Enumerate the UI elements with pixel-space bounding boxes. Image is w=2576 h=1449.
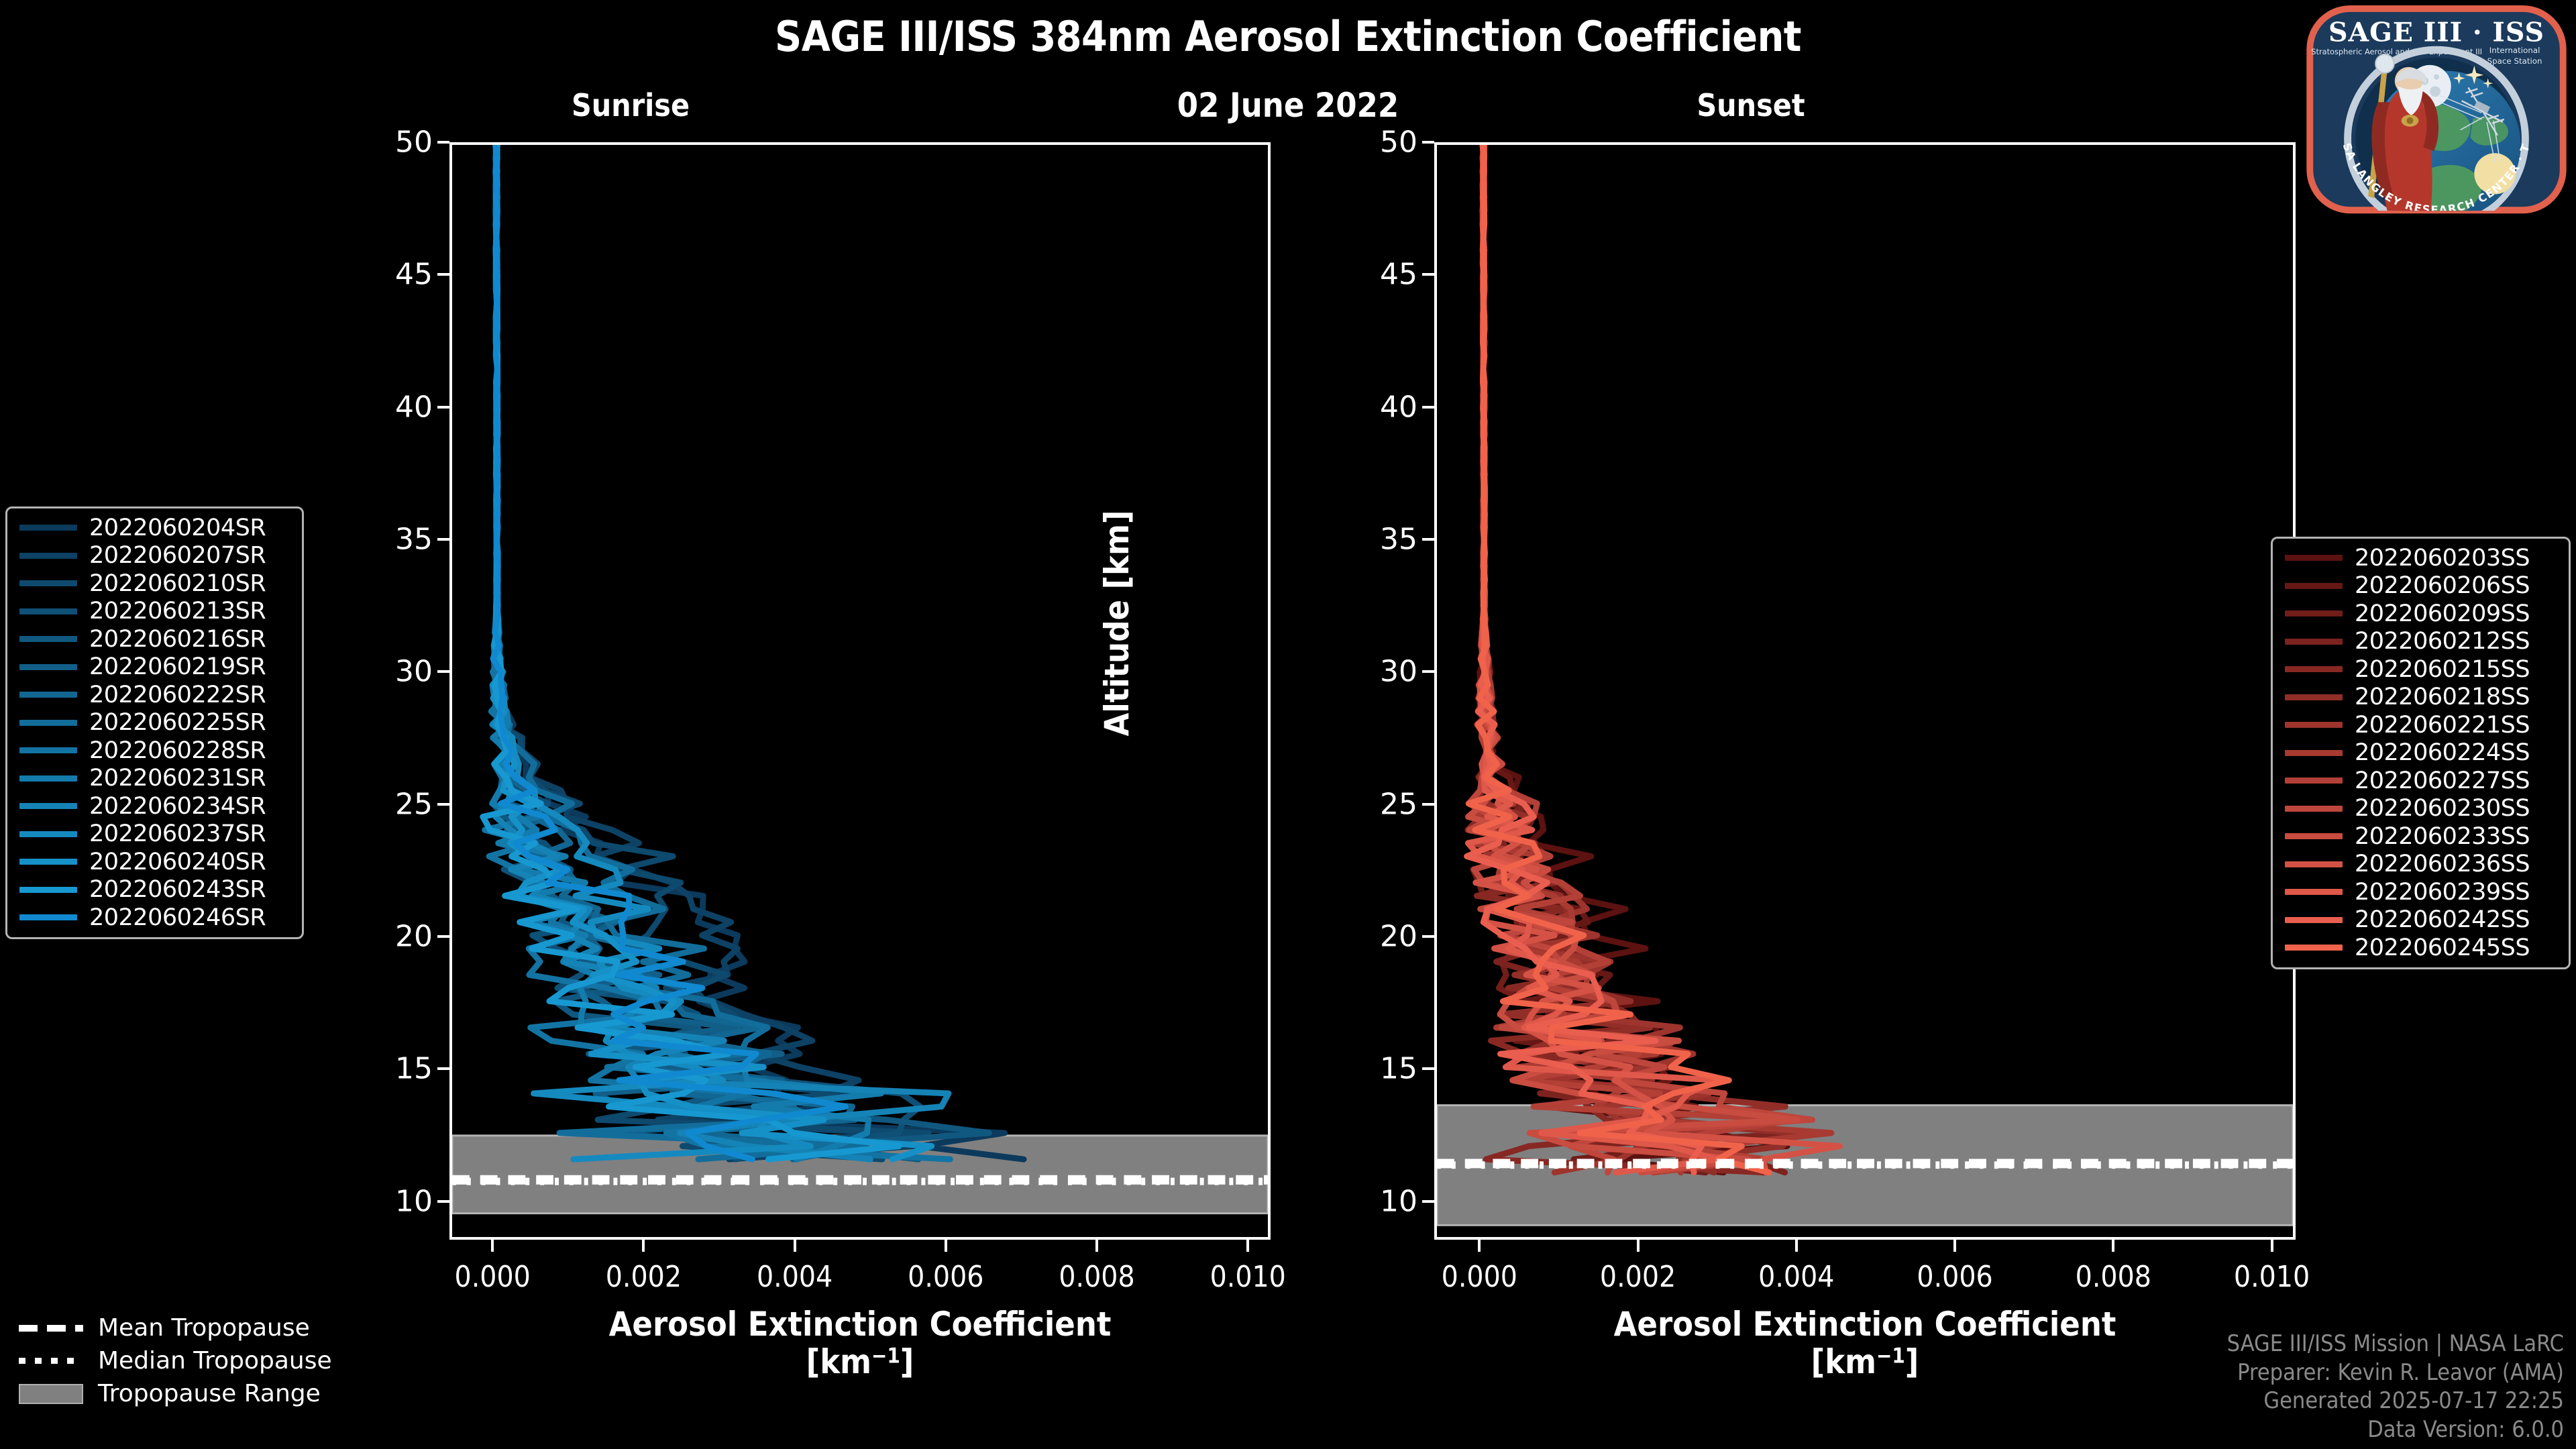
y-axis-tick-label: 45: [1347, 258, 1417, 292]
extinction-profile-line: [489, 145, 920, 1159]
legend-item-label: 2022060210SR: [89, 570, 266, 597]
x-axis-tick-label: 0.008: [2076, 1260, 2151, 1294]
y-axis-tick-mark: [1422, 670, 1434, 673]
extinction-profile-line: [494, 145, 1024, 1159]
legend-color-swatch: [2285, 555, 2343, 561]
y-axis-tick-label: 30: [362, 655, 433, 689]
legend-item[interactable]: 2022060224SS: [2279, 739, 2562, 767]
x-axis-tick-mark: [1637, 1240, 1640, 1252]
y-axis-tick-mark: [437, 141, 449, 144]
subtitle-date: 02 June 2022: [0, 86, 2576, 125]
legend-item-label: 2022060243SR: [89, 876, 266, 903]
legend-color-swatch: [2285, 694, 2343, 700]
panel-title-sunrise: Sunrise: [517, 87, 745, 123]
y-axis-tick-label: 40: [362, 390, 433, 424]
y-axis-tick-mark: [437, 935, 449, 938]
x-axis-tick-label: 0.010: [1210, 1260, 1286, 1294]
x-axis-tick-mark: [491, 1240, 494, 1252]
page-title: SAGE III/ISS 384nm Aerosol Extinction Co…: [0, 12, 2576, 61]
plot-area-sunrise[interactable]: [449, 142, 1271, 1240]
x-axis-tick-mark: [1953, 1240, 1956, 1252]
plot-canvas-sunrise: [452, 145, 1268, 1237]
extinction-profile-line: [483, 145, 899, 1159]
legend-item-label: 2022060240SR: [89, 849, 266, 875]
tropopause-legend-label: Median Tropopause: [98, 1347, 332, 1375]
credits-line: Data Version: 6.0.0: [2227, 1415, 2564, 1444]
legend-item-label: 2022060216SR: [89, 626, 266, 653]
legend-item-label: 2022060213SR: [89, 598, 266, 625]
legend-item[interactable]: 2022060216SR: [14, 625, 295, 653]
y-axis-tick-mark: [437, 1067, 449, 1070]
legend-item[interactable]: 2022060233SS: [2279, 822, 2562, 851]
x-axis-tick-mark: [1246, 1240, 1249, 1252]
legend-color-swatch: [19, 859, 77, 865]
y-axis-tick-label: 20: [362, 920, 433, 954]
tropopause-legend-label: Tropopause Range: [98, 1380, 321, 1407]
legend-item-label: 2022060234SR: [89, 793, 266, 820]
legend-color-swatch: [2285, 750, 2343, 756]
y-axis-tick-mark: [1422, 1067, 1434, 1070]
legend-item-label: 2022060225SR: [89, 709, 266, 736]
legend-item[interactable]: 2022060245SS: [2279, 934, 2562, 962]
legend-item-label: 2022060215SS: [2355, 656, 2530, 683]
legend-item[interactable]: 2022060246SR: [14, 904, 295, 932]
legend-item-label: 2022060221SS: [2355, 712, 2530, 739]
legend-color-swatch: [19, 914, 77, 920]
legend-item-label: 2022060219SR: [89, 653, 266, 680]
legend-item[interactable]: 2022060210SR: [14, 570, 295, 598]
legend-item[interactable]: 2022060242SS: [2279, 906, 2562, 934]
legend-color-swatch: [2285, 666, 2343, 672]
x-axis-tick-label: 0.008: [1059, 1260, 1134, 1294]
legend-color-swatch: [19, 775, 77, 782]
tropopause-legend-key-dashed: [19, 1320, 83, 1337]
extinction-profile-line: [1476, 145, 1840, 1173]
x-axis-tick-mark: [945, 1240, 947, 1252]
extinction-profile-line: [494, 145, 811, 1159]
legend-item-label: 2022060227SS: [2355, 767, 2530, 794]
y-axis-tick-mark: [1422, 803, 1434, 806]
legend-item-label: 2022060239SS: [2355, 879, 2530, 906]
y-axis-tick-label: 25: [1347, 787, 1417, 821]
legend-item[interactable]: 2022060203SS: [2279, 544, 2562, 572]
y-axis-tick-label: 25: [362, 787, 433, 821]
y-axis-tick-label: 15: [362, 1052, 433, 1086]
tropopause-legend-item[interactable]: Tropopause Range: [19, 1377, 368, 1410]
legend-item[interactable]: 2022060228SR: [14, 737, 295, 765]
x-axis-tick-mark: [1795, 1240, 1798, 1252]
logo-moon-crater-3: [2434, 74, 2439, 80]
legend-color-swatch: [19, 692, 77, 698]
legend-color-swatch: [2285, 889, 2343, 895]
tropopause-legend-label: Mean Tropopause: [98, 1314, 310, 1342]
legend-color-swatch: [2285, 806, 2343, 812]
legend-item-label: 2022060230SS: [2355, 795, 2530, 822]
tropopause-legend-item[interactable]: Mean Tropopause: [19, 1311, 368, 1344]
y-axis-tick-label: 35: [1347, 523, 1417, 557]
legend-item[interactable]: 2022060240SR: [14, 848, 295, 876]
legend-color-swatch: [2285, 610, 2343, 616]
extinction-profile-line: [493, 145, 989, 1159]
x-axis-tick-mark: [2112, 1240, 2114, 1252]
legend-item[interactable]: 2022060204SR: [14, 514, 295, 542]
y-axis-tick-label: 45: [362, 258, 433, 292]
tropopause-legend[interactable]: Mean TropopauseMedian TropopauseTropopau…: [19, 1311, 368, 1410]
x-axis-tick-label: 0.004: [757, 1260, 833, 1294]
y-axis-tick-mark: [1422, 538, 1434, 541]
x-axis-tick-label: 0.006: [908, 1260, 983, 1294]
legend-item-label: 2022060231SR: [89, 765, 266, 792]
y-axis-tick-label: 50: [362, 125, 433, 160]
y-axis-tick-mark: [1422, 935, 1434, 938]
y-axis-label-sunset: Altitude [km]: [1097, 455, 1136, 791]
legend-item-label: 2022060204SR: [89, 515, 266, 541]
legend-item[interactable]: 2022060222SR: [14, 681, 295, 709]
y-axis-tick-mark: [437, 1200, 449, 1203]
y-axis-tick-label: 50: [1347, 125, 1417, 160]
legend-color-swatch: [19, 887, 77, 893]
legend-item[interactable]: 2022060227SS: [2279, 767, 2562, 795]
legend-item-label: 2022060212SS: [2355, 628, 2530, 655]
legend-color-swatch: [19, 580, 77, 586]
legend-item-label: 2022060218SS: [2355, 684, 2530, 710]
credits-line: SAGE III/ISS Mission | NASA LaRC: [2227, 1330, 2564, 1358]
x-axis-tick-label: 0.000: [455, 1260, 531, 1294]
x-axis-unit: [km−1]: [1434, 1343, 2296, 1381]
credits-line: Preparer: Kevin R. Leavor (AMA): [2227, 1358, 2564, 1387]
y-axis-tick-mark: [1422, 141, 1434, 144]
legend-item-label: 2022060233SS: [2355, 823, 2530, 850]
legend-color-swatch: [2285, 945, 2343, 951]
y-axis-tick-mark: [1422, 406, 1434, 409]
sage-iii-iss-mission-patch-logo: SAGE III · ISS Stratospheric Aerosol and…: [2304, 3, 2569, 224]
legend-color-swatch: [2285, 722, 2343, 728]
x-axis-tick-label: 0.000: [1442, 1260, 1517, 1294]
legend-item-label: 2022060237SR: [89, 820, 266, 847]
extinction-profile-line: [494, 145, 867, 1159]
legend-sunrise[interactable]: 2022060204SR2022060207SR2022060210SR2022…: [5, 506, 304, 939]
legend-item[interactable]: 2022060209SS: [2279, 600, 2562, 628]
legend-item[interactable]: 2022060231SR: [14, 765, 295, 793]
legend-item-label: 2022060209SS: [2355, 600, 2530, 627]
y-axis-tick-mark: [437, 803, 449, 806]
legend-color-swatch: [19, 803, 77, 809]
legend-item[interactable]: 2022060213SR: [14, 598, 295, 626]
legend-item[interactable]: 2022060207SR: [14, 542, 295, 570]
legend-item-label: 2022060207SR: [89, 542, 266, 569]
x-axis-tick-label: 0.010: [2234, 1260, 2310, 1294]
legend-color-swatch: [19, 525, 77, 531]
y-axis-tick-mark: [437, 273, 449, 276]
legend-color-swatch: [2285, 861, 2343, 867]
legend-item[interactable]: 2022060212SS: [2279, 628, 2562, 656]
legend-item-label: 2022060246SR: [89, 904, 266, 931]
y-axis-tick-mark: [437, 538, 449, 541]
y-axis-tick-label: 15: [1347, 1052, 1417, 1086]
y-axis-tick-label: 40: [1347, 390, 1417, 424]
plot-area-sunset[interactable]: [1434, 142, 2296, 1240]
x-axis-tick-mark: [2271, 1240, 2273, 1252]
legend-item-label: 2022060228SR: [89, 737, 266, 764]
y-axis-tick-mark: [437, 406, 449, 409]
legend-color-swatch: [19, 664, 77, 670]
legend-item-label: 2022060224SS: [2355, 739, 2530, 766]
y-axis-tick-label: 30: [1347, 655, 1417, 689]
x-axis-tick-mark: [794, 1240, 796, 1252]
y-axis-tick-mark: [437, 670, 449, 673]
y-axis-tick-label: 10: [362, 1184, 433, 1218]
legend-item[interactable]: 2022060221SS: [2279, 711, 2562, 739]
x-axis-tick-mark: [642, 1240, 645, 1252]
legend-color-swatch: [2285, 777, 2343, 784]
legend-item[interactable]: 2022060215SS: [2279, 655, 2562, 684]
legend-color-swatch: [2285, 583, 2343, 589]
legend-item[interactable]: 2022060218SS: [2279, 684, 2562, 712]
legend-item[interactable]: 2022060206SS: [2279, 572, 2562, 600]
legend-item[interactable]: 2022060239SS: [2279, 878, 2562, 906]
legend-item[interactable]: 2022060230SS: [2279, 795, 2562, 823]
logo-subtitle-right-1: International: [2489, 46, 2540, 55]
x-axis-tick-mark: [1095, 1240, 1098, 1252]
tropopause-legend-key-band: [19, 1384, 83, 1404]
logo-subtitle-right-2: Space Station: [2487, 56, 2542, 66]
y-axis-tick-label: 20: [1347, 920, 1417, 954]
panel-title-sunset: Sunset: [1637, 87, 1865, 123]
legend-color-swatch: [19, 608, 77, 614]
legend-item-label: 2022060206SS: [2355, 572, 2530, 599]
x-axis-label-sunset: Aerosol Extinction Coefficient [km−1]: [1434, 1305, 2296, 1381]
legend-item-label: 2022060203SS: [2355, 545, 2530, 572]
legend-item[interactable]: 2022060234SR: [14, 792, 295, 820]
legend-color-swatch: [2285, 639, 2343, 645]
credits-line: Generated 2025-07-17 22:25: [2227, 1387, 2564, 1415]
x-axis-tick-label: 0.004: [1758, 1260, 1834, 1294]
legend-color-swatch: [19, 747, 77, 753]
figure-root: SAGE III/ISS 384nm Aerosol Extinction Co…: [0, 0, 2576, 1449]
legend-color-swatch: [19, 636, 77, 642]
plot-canvas-sunset: [1437, 145, 2293, 1237]
x-axis-label-text: Aerosol Extinction Coefficient: [1614, 1305, 2116, 1344]
x-axis-tick-label: 0.006: [1917, 1260, 1992, 1294]
credits-block: SAGE III/ISS Mission | NASA LaRCPreparer…: [2227, 1330, 2564, 1444]
legend-color-swatch: [19, 831, 77, 837]
y-axis-tick-label: 35: [362, 523, 433, 557]
x-axis-label-text: Aerosol Extinction Coefficient: [609, 1305, 1112, 1344]
legend-item-label: 2022060245SS: [2355, 934, 2530, 961]
legend-item-label: 2022060222SR: [89, 682, 266, 708]
logo-title: SAGE III · ISS: [2328, 17, 2544, 48]
legend-color-swatch: [2285, 917, 2343, 923]
x-axis-label-sunrise: Aerosol Extinction Coefficient [km−1]: [449, 1305, 1271, 1381]
legend-color-swatch: [19, 720, 77, 726]
legend-color-swatch: [2285, 833, 2343, 839]
legend-color-swatch: [19, 553, 77, 559]
legend-item-label: 2022060236SS: [2355, 851, 2530, 877]
tropopause-legend-key-dotted: [19, 1352, 83, 1370]
legend-item[interactable]: 2022060236SS: [2279, 851, 2562, 879]
legend-item[interactable]: 2022060219SR: [14, 653, 295, 682]
legend-item[interactable]: 2022060243SR: [14, 876, 295, 904]
legend-item[interactable]: 2022060237SR: [14, 820, 295, 849]
tropopause-legend-item[interactable]: Median Tropopause: [19, 1344, 368, 1377]
x-axis-tick-mark: [1478, 1240, 1481, 1252]
y-axis-tick-label: 10: [1347, 1184, 1417, 1218]
logo-moon-crater-2: [2430, 86, 2440, 97]
y-axis-tick-mark: [1422, 1200, 1434, 1203]
x-axis-tick-label: 0.002: [1600, 1260, 1676, 1294]
x-axis-unit: [km−1]: [449, 1343, 1271, 1381]
legend-sunset[interactable]: 2022060203SS2022060206SS2022060209SS2022…: [2271, 537, 2571, 969]
legend-item[interactable]: 2022060225SR: [14, 709, 295, 737]
y-axis-tick-mark: [1422, 273, 1434, 276]
x-axis-tick-label: 0.002: [606, 1260, 682, 1294]
legend-item-label: 2022060242SS: [2355, 906, 2530, 933]
